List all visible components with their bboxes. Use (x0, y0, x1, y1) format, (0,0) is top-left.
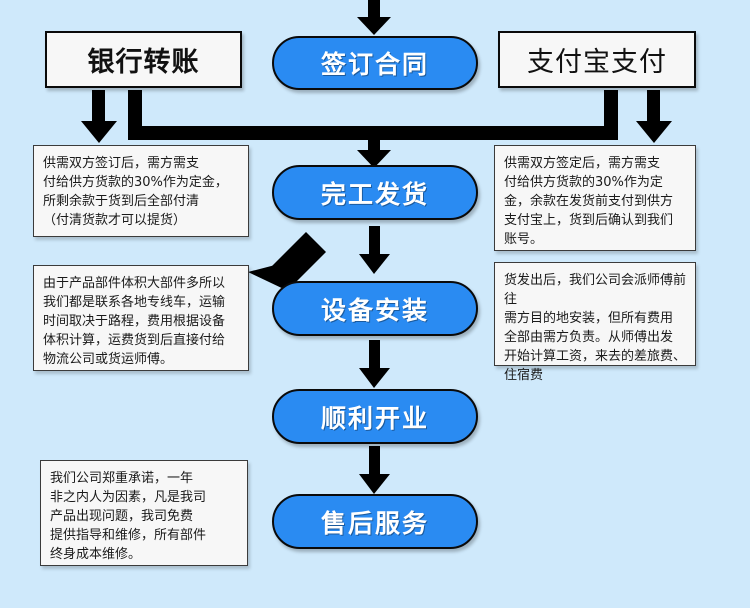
step-sign-contract-label: 签订合同 (321, 45, 429, 81)
step-equipment-install[interactable]: 设备安装 (272, 281, 478, 336)
arrow-install-to-opening (359, 340, 390, 388)
note-deposit-terms-alipay-text: 供需双方签定后，需方需支 付给供方货款的30%作为定 金，余款在发货前支付到供方… (504, 154, 688, 249)
note-deposit-terms-bank-text: 供需双方签订后，需方需支 付给供方货款的30%作为定金， 所剩余款于货到后全部付… (43, 154, 241, 230)
arrow-alipay-to-deposit-note (636, 90, 672, 143)
step-sign-contract[interactable]: 签订合同 (272, 36, 478, 90)
step-after-sales-label: 售后服务 (321, 504, 429, 540)
header-box-bank-transfer[interactable]: 银行转账 (45, 31, 242, 88)
arrow-opening-to-after-sales (359, 446, 390, 494)
note-installation-terms: 货发出后，我们公司会派师傅前往 需方目的地安装，但所有费用 全部由需方负责。从师… (494, 262, 696, 366)
arrow-into-sign-contract (357, 0, 391, 35)
flowchart-canvas: 银行转账 支付宝支付 签订合同 完工发货 设备安装 顺利开业 售后服务 供需双方… (0, 0, 750, 608)
step-after-sales[interactable]: 售后服务 (272, 494, 478, 549)
header-box-bank-transfer-label: 银行转账 (88, 40, 200, 79)
note-logistics-terms-text: 由于产品部件体积大部件多所以 我们都是联系各地专线车，运输 时间取决于路程，费用… (43, 274, 241, 369)
step-smooth-opening-label: 顺利开业 (321, 399, 429, 435)
header-box-alipay-payment-label: 支付宝支付 (527, 40, 667, 79)
note-deposit-terms-alipay: 供需双方签定后，需方需支 付给供方货款的30%作为定 金，余款在发货前支付到供方… (494, 145, 696, 251)
step-smooth-opening[interactable]: 顺利开业 (272, 389, 478, 444)
arrow-finish-to-install (359, 226, 390, 274)
step-equipment-install-label: 设备安装 (321, 291, 429, 327)
step-finish-and-ship-label: 完工发货 (321, 175, 429, 211)
note-deposit-terms-bank: 供需双方签订后，需方需支 付给供方货款的30%作为定金， 所剩余款于货到后全部付… (33, 145, 249, 237)
note-warranty-terms-text: 我们公司郑重承诺，一年 非之内人为因素，凡是我司 产品出现问题，我司免费 提供指… (50, 469, 240, 564)
header-box-alipay-payment[interactable]: 支付宝支付 (498, 31, 696, 88)
arrow-bank-to-deposit-note (81, 90, 117, 143)
note-installation-terms-text: 货发出后，我们公司会派师傅前往 需方目的地安装，但所有费用 全部由需方负责。从师… (504, 271, 688, 385)
note-warranty-terms: 我们公司郑重承诺，一年 非之内人为因素，凡是我司 产品出现问题，我司免费 提供指… (40, 460, 248, 566)
step-finish-and-ship[interactable]: 完工发货 (272, 165, 478, 220)
note-logistics-terms: 由于产品部件体积大部件多所以 我们都是联系各地专线车，运输 时间取决于路程，费用… (33, 265, 249, 371)
